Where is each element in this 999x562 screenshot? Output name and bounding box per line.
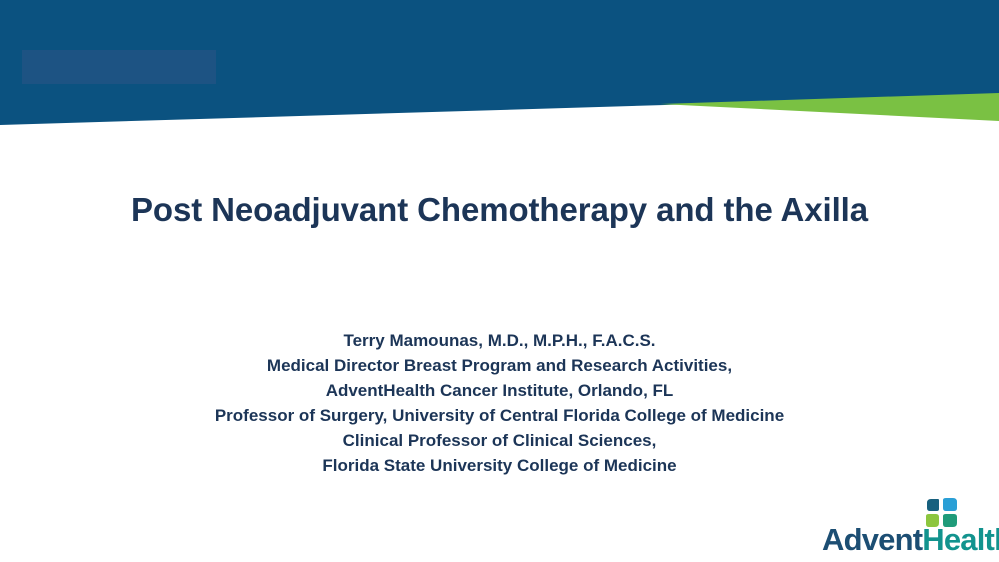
adventhealth-logo: AdventHealth (822, 498, 992, 556)
banner-placeholder-box (22, 50, 216, 84)
slide-title: Post Neoadjuvant Chemotherapy and the Ax… (0, 190, 999, 230)
subtitle-line-role: Medical Director Breast Program and Rese… (0, 353, 999, 378)
slide-header-banner (0, 0, 999, 135)
adventhealth-wordmark: AdventHealth (822, 524, 992, 556)
petal-top-left (927, 499, 939, 511)
logo-text-advent: Advent (822, 522, 922, 557)
subtitle-line-clinical-professor: Clinical Professor of Clinical Sciences, (0, 428, 999, 453)
subtitle-line-presenter: Terry Mamounas, M.D., M.P.H., F.A.C.S. (0, 328, 999, 353)
subtitle-line-university: Florida State University College of Medi… (0, 453, 999, 478)
slide-subtitle-block: Terry Mamounas, M.D., M.P.H., F.A.C.S. M… (0, 328, 999, 478)
petal-top-right (943, 498, 957, 511)
presentation-slide: Post Neoadjuvant Chemotherapy and the Ax… (0, 0, 999, 562)
subtitle-line-institute: AdventHealth Cancer Institute, Orlando, … (0, 378, 999, 403)
subtitle-line-professor: Professor of Surgery, University of Cent… (0, 403, 999, 428)
logo-text-health: Health (922, 522, 999, 557)
